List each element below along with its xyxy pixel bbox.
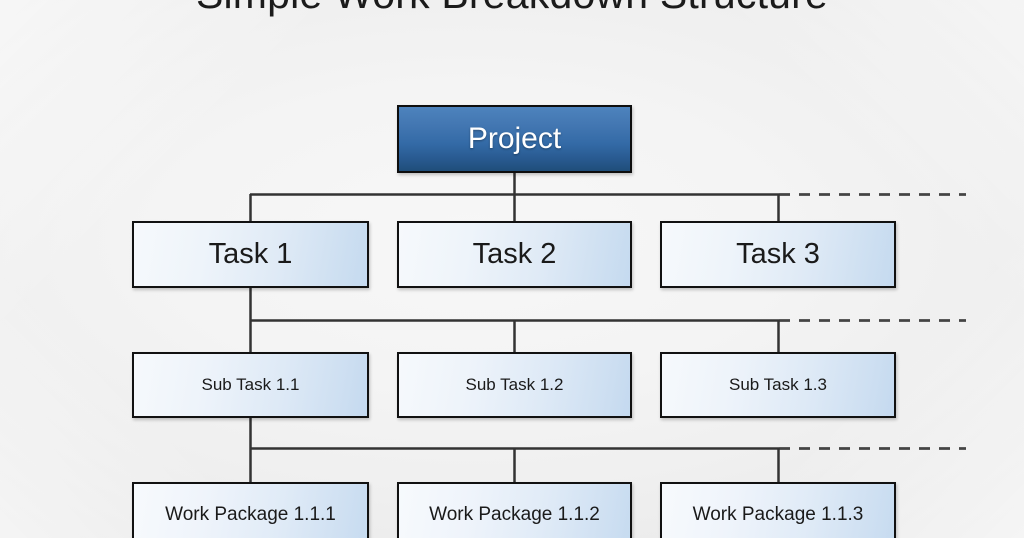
node-sub-task-1-3-label: Sub Task 1.3 [729,375,827,395]
node-task-3-label: Task 3 [736,238,820,271]
node-task-1-label: Task 1 [209,238,293,271]
page-title: Simple Work Breakdown Structure [0,0,1024,18]
node-work-package-1-1-2[interactable]: Work Package 1.1.2 [397,482,632,538]
node-sub-task-1-1[interactable]: Sub Task 1.1 [132,352,369,418]
node-work-package-1-1-1-label: Work Package 1.1.1 [165,504,336,526]
node-task-3[interactable]: Task 3 [660,221,896,288]
node-work-package-1-1-3[interactable]: Work Package 1.1.3 [660,482,896,538]
node-sub-task-1-2-label: Sub Task 1.2 [466,375,564,395]
node-task-2-label: Task 2 [473,238,557,271]
node-task-2[interactable]: Task 2 [397,221,632,288]
node-sub-task-1-1-label: Sub Task 1.1 [202,375,300,395]
node-work-package-1-1-3-label: Work Package 1.1.3 [693,504,864,526]
node-project-label: Project [468,122,561,156]
node-work-package-1-1-1[interactable]: Work Package 1.1.1 [132,482,369,538]
node-sub-task-1-2[interactable]: Sub Task 1.2 [397,352,632,418]
node-work-package-1-1-2-label: Work Package 1.1.2 [429,504,600,526]
node-project[interactable]: Project [397,105,632,173]
slide-canvas: Simple Work Breakdown Structure Project … [0,0,1024,538]
node-sub-task-1-3[interactable]: Sub Task 1.3 [660,352,896,418]
node-task-1[interactable]: Task 1 [132,221,369,288]
